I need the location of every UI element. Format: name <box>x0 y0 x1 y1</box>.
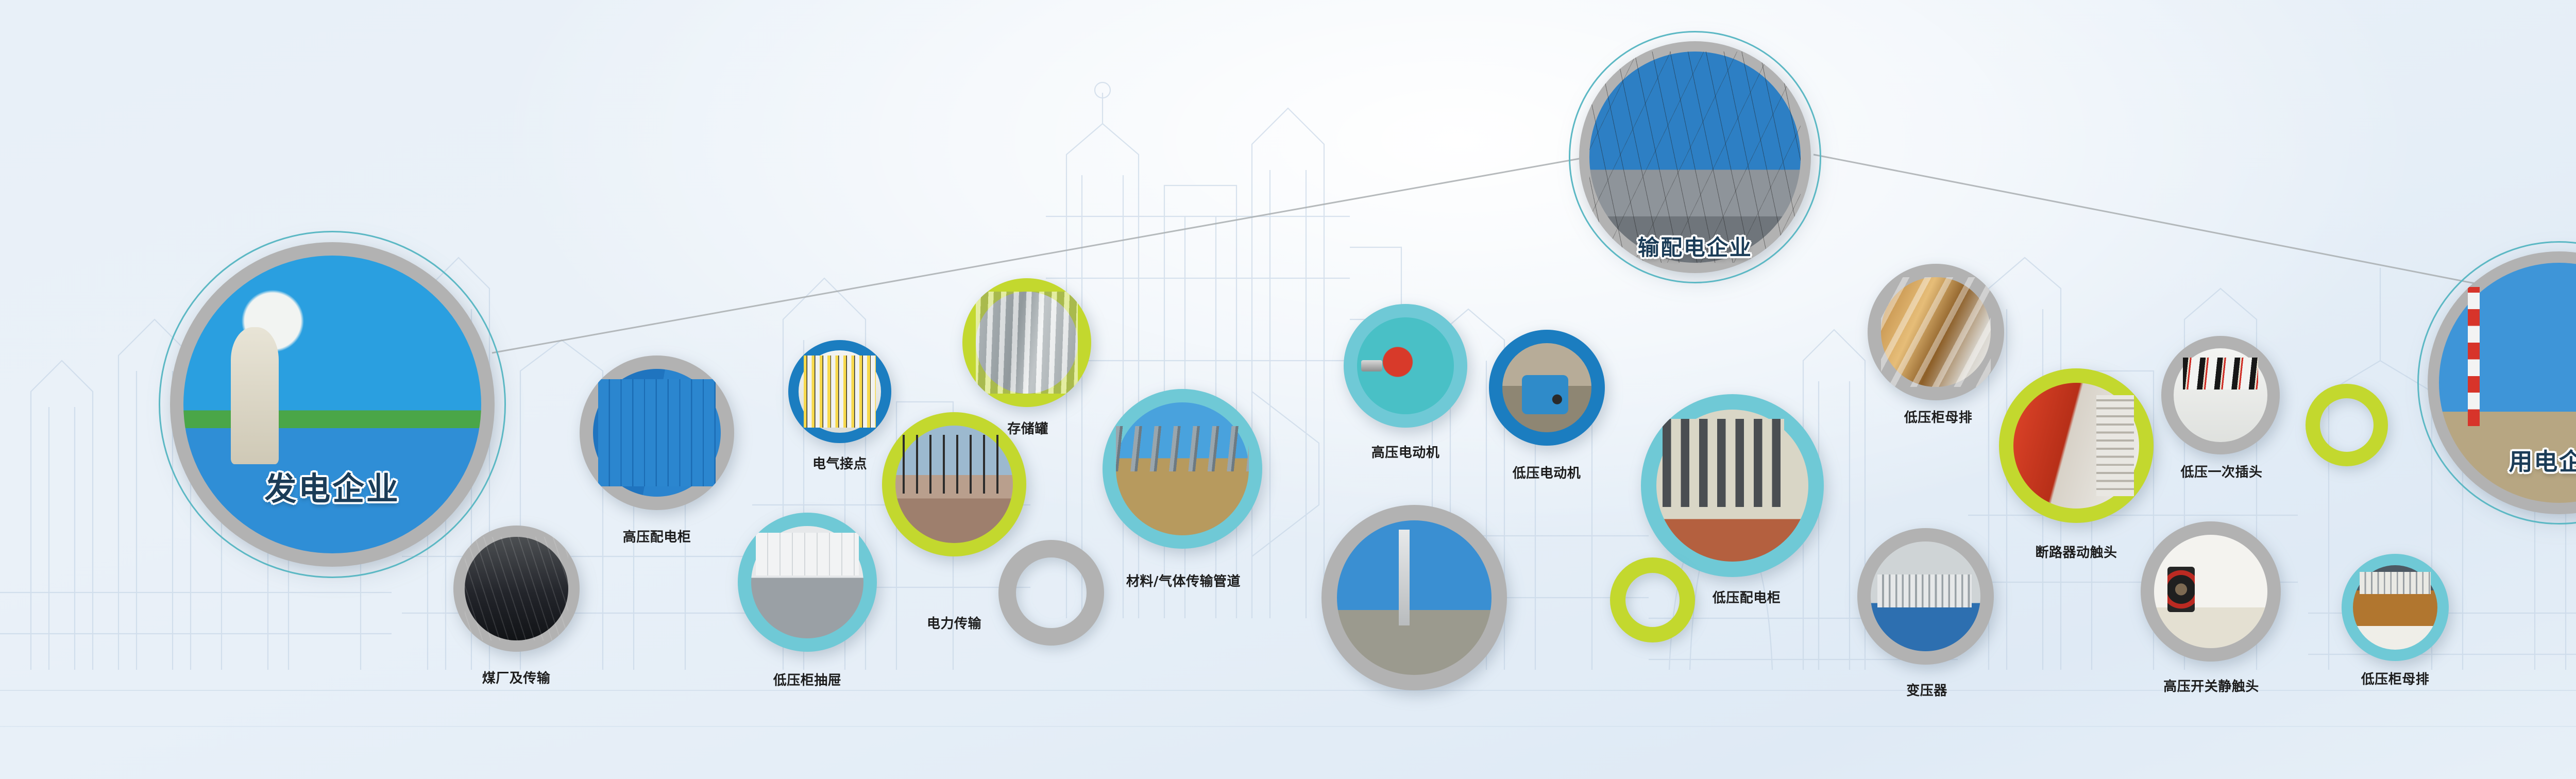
caption-hv-switchgear: 高压配电柜 <box>623 527 691 546</box>
photo-lv-motor <box>1502 343 1591 432</box>
node-photo-frame <box>1579 41 1811 273</box>
photo-terminal-contacts <box>799 350 881 433</box>
photo-substation-switchyard <box>1589 52 1801 263</box>
caption-lv-motor: 低压电动机 <box>1513 463 1581 482</box>
caption-coal-plant-transport: 煤厂及传输 <box>482 668 551 687</box>
node-breaker-moving-contact[interactable] <box>1999 368 2154 523</box>
node-hv-switchgear[interactable] <box>580 355 734 510</box>
photo-hv-static-contacts <box>2154 535 2267 648</box>
decorative-ring-lime-mid <box>1610 557 1695 642</box>
caption-lv-cabinet-drawer: 低压柜抽屉 <box>773 670 842 689</box>
node-lv-cabinet-busbar-a[interactable] <box>1868 264 2004 400</box>
node-photo-frame <box>1641 394 1824 577</box>
node-photo-frame <box>1103 389 1262 549</box>
caption-material-gas-pipeline: 材料/气体传输管道 <box>1126 571 1241 590</box>
caption-lv-primary-plug: 低压一次插头 <box>2180 462 2262 481</box>
photo-lv-distribution-panel <box>1656 410 1808 562</box>
node-photo-frame <box>738 513 877 652</box>
node-photo-frame <box>580 355 734 510</box>
node-hv-switch-static-contact[interactable] <box>2141 521 2281 662</box>
node-photo-frame <box>1321 505 1507 690</box>
node-photo-frame <box>1857 528 1994 665</box>
photo-industrial-plant-chimneys <box>2439 263 2576 503</box>
node-power-transmission[interactable] <box>882 412 1026 556</box>
photo-substation-insulators <box>895 426 1013 543</box>
node-photo-frame <box>882 412 1026 556</box>
caption-lv-switchgear: 低压配电柜 <box>1713 587 1781 606</box>
node-material-gas-pipeline[interactable] <box>1103 389 1262 549</box>
node-photo-frame <box>2141 521 2281 662</box>
node-photo-frame <box>1868 264 2004 400</box>
photo-lv-cabinet-drawer <box>751 526 863 638</box>
node-photo-frame <box>453 526 580 652</box>
node-lv-motor[interactable] <box>1489 330 1605 446</box>
node-photo-frame <box>1344 304 1467 428</box>
node-coal-plant-transport[interactable] <box>453 526 580 652</box>
caption-lv-cabinet-busbar-b: 低压柜母排 <box>2361 669 2430 688</box>
node-photo-frame <box>1999 368 2154 523</box>
photo-coal-conveyor <box>465 537 568 640</box>
photo-lv-cabinet-busbar <box>2353 565 2437 650</box>
caption-transformer: 变压器 <box>1906 680 1947 699</box>
node-photo-frame <box>1489 330 1605 446</box>
caption-hv-switch-static-contact: 高压开关静触头 <box>2163 676 2259 695</box>
node-photo-frame <box>2342 554 2449 661</box>
caption-storage-tank: 存储罐 <box>1007 418 1048 437</box>
node-photo-frame <box>788 340 891 443</box>
photo-hv-motor <box>1357 317 1454 414</box>
photo-lv-primary-plug <box>2174 348 2267 442</box>
node-photo-frame <box>2161 336 2280 454</box>
hero-node-transmission-distribution[interactable]: 输配电企业 <box>1579 41 1811 273</box>
photo-storage-tanks <box>976 292 1078 394</box>
photo-breaker-moving-contact <box>2013 383 2139 509</box>
photo-refinery-stack <box>1337 520 1492 675</box>
caption-hv-motor: 高压电动机 <box>1371 442 1440 461</box>
photo-pipe-rack <box>1116 402 1249 535</box>
caption-electrical-contacts: 电气接点 <box>812 453 867 472</box>
node-lv-cabinet-busbar-b[interactable] <box>2342 554 2449 661</box>
infographic-canvas: 发电企业 输配电企业 用电企业 高压配电柜 煤厂及传输 低压柜抽屉 <box>0 0 2576 779</box>
node-transformer[interactable] <box>1857 528 1994 665</box>
photo-nuclear-cooling-towers <box>183 256 481 553</box>
node-lv-primary-plug[interactable] <box>2161 336 2280 454</box>
caption-lv-cabinet-busbar-a: 低压柜母排 <box>1904 407 1973 426</box>
photo-hv-switchgear <box>593 369 721 497</box>
decorative-ring-gray-left <box>998 540 1104 646</box>
photo-oil-transformer <box>1871 541 1980 651</box>
node-photo-frame <box>2428 251 2576 514</box>
node-storage-tank[interactable] <box>962 278 1091 407</box>
node-electrical-contacts[interactable] <box>788 340 891 443</box>
node-chimney-stack[interactable] <box>1321 505 1507 690</box>
node-photo-frame <box>962 278 1091 407</box>
hero-node-power-consumer[interactable]: 用电企业 <box>2428 251 2576 514</box>
node-photo-frame <box>170 242 495 567</box>
decorative-ring-lime-right <box>2306 384 2388 466</box>
caption-breaker-moving-contact: 断路器动触头 <box>2035 542 2117 561</box>
node-lv-cabinet-drawer[interactable] <box>738 513 877 652</box>
node-lv-switchgear[interactable] <box>1641 394 1824 577</box>
node-hv-motor[interactable] <box>1344 304 1467 428</box>
photo-copper-busbar <box>1881 277 1991 387</box>
caption-power-transmission: 电力传输 <box>927 613 981 632</box>
hero-node-power-generation[interactable]: 发电企业 <box>170 242 495 567</box>
